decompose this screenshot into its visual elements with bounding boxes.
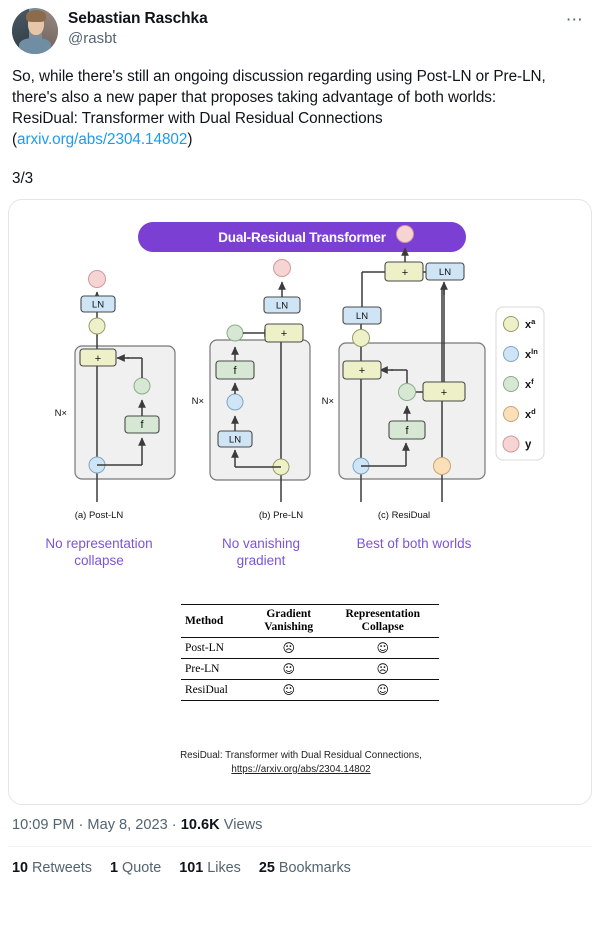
panel-claim-b: No vanishinggradient [197,535,325,569]
tweet-media-figure[interactable]: Dual-Residual Transformer .blk { stroke:… [8,199,592,805]
figure-citation: ResiDual: Transformer with Dual Residual… [69,749,533,777]
legend-swatch-y [503,436,519,452]
author-display-name[interactable]: Sebastian Raschka [68,9,208,29]
tweet-text-line-1: So, while there's still an ongoing discu… [12,68,550,106]
more-horizontal-icon[interactable]: ⋯ [562,10,588,30]
bookmarks-stat[interactable]: 25 Bookmarks [259,860,351,876]
retweets-label: Retweets [28,860,92,876]
author-handle[interactable]: @rasbt [68,29,208,49]
node-label-plus: + [95,353,101,365]
cell-representation-collapse: ☹ [327,659,439,680]
svg-text:LN: LN [356,311,368,322]
quotes-count: 1 [110,860,118,876]
table-row: Pre-LN ☺ ☹ [181,659,439,680]
paren-close: ) [187,131,192,148]
cell-gradient-vanishing: ☺ [251,659,327,680]
author-names: Sebastian Raschka @rasbt [68,8,208,49]
engagement-counts: 10 Retweets 1 Quote 101 Likes 25 Bookmar… [12,860,588,876]
table-header-representation-collapse: Representation Collapse [327,605,439,638]
svg-text:+: + [441,387,447,399]
svg-text:+: + [402,267,408,279]
panel-claim-a-l1: No representation [45,536,152,551]
cell-gradient-vanishing: ☹ [251,638,327,659]
comparison-table: Method Gradient Vanishing Representation… [181,604,439,701]
footer-divider [8,846,592,847]
table-row: ResiDual ☺ ☺ [181,680,439,701]
legend-swatch-xa [504,317,519,332]
figure-citation-link[interactable]: https://arxiv.org/abs/2304.14802 [231,764,370,775]
likes-count: 101 [179,860,203,876]
cell-gradient-vanishing: ☺ [251,680,327,701]
legend-swatch-xd [504,407,519,422]
retweets-stat[interactable]: 10 Retweets [12,860,92,876]
arxiv-link[interactable]: arxiv.org/abs/2304.14802 [17,131,187,148]
tweet-text-counter: 3/3 [12,170,33,187]
panel-caption-b: (b) Pre-LN [231,510,331,521]
likes-label: Likes [203,860,241,876]
legend-swatch-xf [504,377,519,392]
repeat-label-a: N× [55,408,67,419]
svg-text:LN: LN [276,301,288,312]
bookmarks-count: 25 [259,860,275,876]
node-label-ln: LN [92,300,104,311]
cell-representation-collapse: ☺ [327,680,439,701]
cell-method: Pre-LN [181,659,251,680]
svg-text:LN: LN [439,267,451,278]
figure-citation-line-1: ResiDual: Transformer with Dual Residual… [180,750,422,761]
views-label: Views [220,817,263,833]
panel-caption-a: (a) Post-LN [49,510,149,521]
svg-text:+: + [359,365,365,377]
svg-text:LN: LN [229,435,241,446]
table-header-gradient-vanishing: Gradient Vanishing [251,605,327,638]
quotes-label: Quote [118,860,161,876]
tweet-timestamp-row: 10:09 PM · May 8, 2023 · 10.6K Views [12,817,588,833]
repeat-label-c: N× [322,396,334,407]
tweet-timestamp[interactable]: 10:09 PM · May 8, 2023 · [12,817,181,833]
panel-caption-c: (c) ResiDual [354,510,454,521]
architecture-diagram: .blk { stroke:#4a4a4a; stroke-width:1.1;… [9,200,592,530]
tweet-header: Sebastian Raschka @rasbt ⋯ [12,8,588,54]
paragraph-gap [12,150,588,168]
quotes-stat[interactable]: 1 Quote [110,860,161,876]
avatar[interactable] [12,8,58,54]
views-count: 10.6K [181,817,220,833]
cell-method: ResiDual [181,680,251,701]
panel-claim-b-l1: No vanishing [222,536,300,551]
tweet-text-line-2: ResiDual: Transformer with Dual Residual… [12,110,383,127]
avatar-shirt [19,38,50,54]
cell-method: Post-LN [181,638,251,659]
cell-representation-collapse: ☺ [327,638,439,659]
retweets-count: 10 [12,860,28,876]
panel-claim-c-l1: Best of both worlds [357,536,472,551]
panel-claim-c: Best of both worlds [339,535,489,552]
panel-claim-b-l2: gradient [237,553,286,568]
svg-text:y: y [525,439,532,451]
panel-claim-a-l2: collapse [74,553,124,568]
tweet-container: Sebastian Raschka @rasbt ⋯ So, while the… [0,0,600,876]
repeat-label-b: N× [192,396,204,407]
likes-stat[interactable]: 101 Likes [179,860,241,876]
panel-claim-a: No representationcollapse [29,535,169,569]
bookmarks-label: Bookmarks [275,860,351,876]
tweet-text: So, while there's still an ongoing discu… [12,66,588,189]
table-header-method: Method [181,605,251,638]
avatar-hair [26,10,46,22]
table-row: Post-LN ☹ ☺ [181,638,439,659]
legend-swatch-xln [504,347,519,362]
svg-text:+: + [281,328,287,340]
